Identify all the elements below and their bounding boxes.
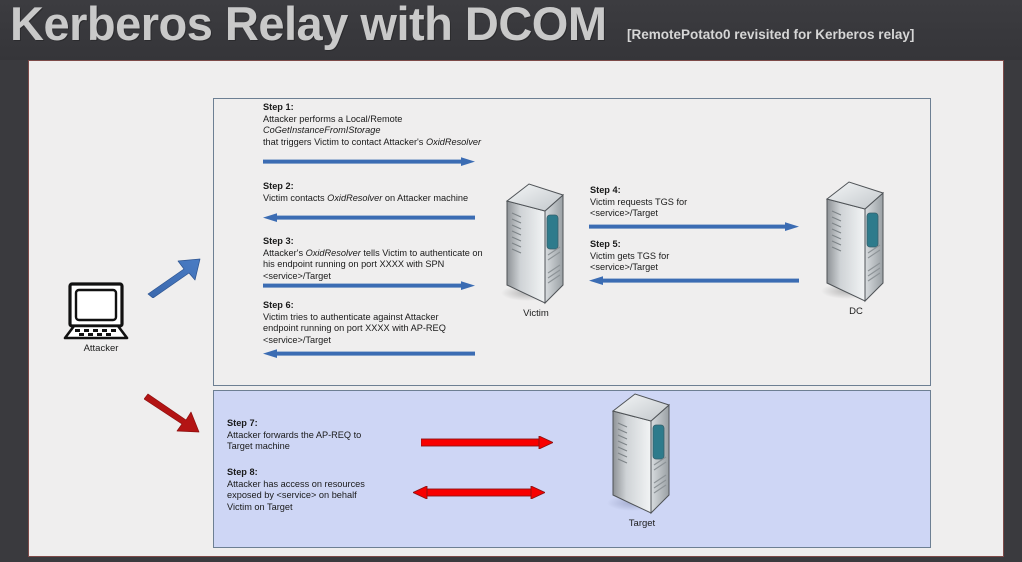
arrow-attacker-down bbox=[144, 391, 204, 433]
step-2-heading: Step 2: bbox=[263, 181, 468, 193]
step-8-line2: exposed by <service> on behalf bbox=[227, 490, 365, 502]
server-tower-icon bbox=[821, 179, 891, 309]
device-label-target: Target bbox=[607, 518, 677, 529]
arrow-step5 bbox=[589, 276, 799, 283]
step-1-heading: Step 1: bbox=[263, 102, 481, 114]
device-victim: Victim bbox=[501, 181, 571, 311]
step-8-heading: Step 8: bbox=[227, 467, 365, 479]
step-1-line3: that triggers Victim to contact Attacker… bbox=[263, 137, 481, 149]
step-2-line1-a: Victim contacts bbox=[263, 193, 327, 203]
server-tower-icon bbox=[501, 181, 571, 311]
step-3-heading: Step 3: bbox=[263, 236, 483, 248]
step-5-text: Step 5: Victim gets TGS for <service>/Ta… bbox=[590, 239, 669, 274]
step-2-line1: Victim contacts OxidResolver on Attacker… bbox=[263, 193, 468, 205]
step-5-line1: Victim gets TGS for bbox=[590, 251, 669, 263]
step-2-line1-c: on Attacker machine bbox=[382, 193, 468, 203]
title-bar: Kerberos Relay with DCOM [RemotePotato0 … bbox=[0, 0, 1022, 60]
step-7-line1: Attacker forwards the AP-REQ to bbox=[227, 430, 361, 442]
page-title: Kerberos Relay with DCOM bbox=[10, 0, 607, 51]
step-6-heading: Step 6: bbox=[263, 300, 446, 312]
arrow-step7 bbox=[421, 436, 553, 443]
arrow-attacker-up bbox=[144, 256, 204, 298]
step-7-line2: Target machine bbox=[227, 441, 361, 453]
step-7-text: Step 7: Attacker forwards the AP-REQ to … bbox=[227, 418, 361, 453]
step-8-line1: Attacker has access on resources bbox=[227, 479, 365, 491]
step-8-text: Step 8: Attacker has access on resources… bbox=[227, 467, 365, 513]
step-4-line2: <service>/Target bbox=[590, 208, 687, 220]
step-3-text: Step 3: Attacker's OxidResolver tells Vi… bbox=[263, 236, 483, 282]
step-4-heading: Step 4: bbox=[590, 185, 687, 197]
arrow-step3 bbox=[263, 281, 475, 288]
step-5-heading: Step 5: bbox=[590, 239, 669, 251]
server-tower-icon bbox=[607, 391, 677, 521]
step-1-line3-b: OxidResolver bbox=[426, 137, 481, 147]
step-8-line3: Victim on Target bbox=[227, 502, 365, 514]
step-7-heading: Step 7: bbox=[227, 418, 361, 430]
device-label-victim: Victim bbox=[501, 308, 571, 319]
step-5-line2: <service>/Target bbox=[590, 262, 669, 274]
arrow-step8 bbox=[413, 486, 545, 493]
step-6-line2: endpoint running on port XXXX with AP-RE… bbox=[263, 323, 446, 335]
step-6-text: Step 6: Victim tries to authenticate aga… bbox=[263, 300, 446, 346]
arrow-step6 bbox=[263, 349, 475, 356]
arrow-step4 bbox=[589, 222, 799, 229]
step-2-text: Step 2: Victim contacts OxidResolver on … bbox=[263, 181, 468, 204]
step-3-line1-a: Attacker's bbox=[263, 248, 306, 258]
step-1-text: Step 1: Attacker performs a Local/Remote… bbox=[263, 102, 481, 148]
step-6-line3: <service>/Target bbox=[263, 335, 446, 347]
step-1-line2: CoGetInstanceFromIStorage bbox=[263, 125, 481, 137]
step-4-text: Step 4: Victim requests TGS for <service… bbox=[590, 185, 687, 220]
step-3-line1: Attacker's OxidResolver tells Victim to … bbox=[263, 248, 483, 260]
step-4-line1: Victim requests TGS for bbox=[590, 197, 687, 209]
arrow-step2 bbox=[263, 213, 475, 220]
computer-icon bbox=[61, 281, 141, 341]
device-label-dc: DC bbox=[821, 306, 891, 317]
step-1-line3-a: that triggers Victim to contact Attacker… bbox=[263, 137, 426, 147]
slide-canvas: Attacker bbox=[28, 60, 1004, 557]
step-6-line1: Victim tries to authenticate against Att… bbox=[263, 312, 446, 324]
step-3-line1-c: tells Victim to authenticate on bbox=[361, 248, 483, 258]
device-target: Target bbox=[607, 391, 677, 521]
step-2-line1-b: OxidResolver bbox=[327, 193, 382, 203]
page-subtitle: [RemotePotato0 revisited for Kerberos re… bbox=[627, 27, 914, 42]
step-1-line1: Attacker performs a Local/Remote bbox=[263, 114, 481, 126]
device-dc: DC bbox=[821, 179, 891, 309]
device-attacker: Attacker bbox=[61, 281, 141, 341]
step-3-line2: his endpoint running on port XXXX with S… bbox=[263, 259, 483, 271]
arrow-step1 bbox=[263, 157, 475, 164]
step-3-line1-b: OxidResolver bbox=[306, 248, 361, 258]
device-label-attacker: Attacker bbox=[61, 343, 141, 354]
